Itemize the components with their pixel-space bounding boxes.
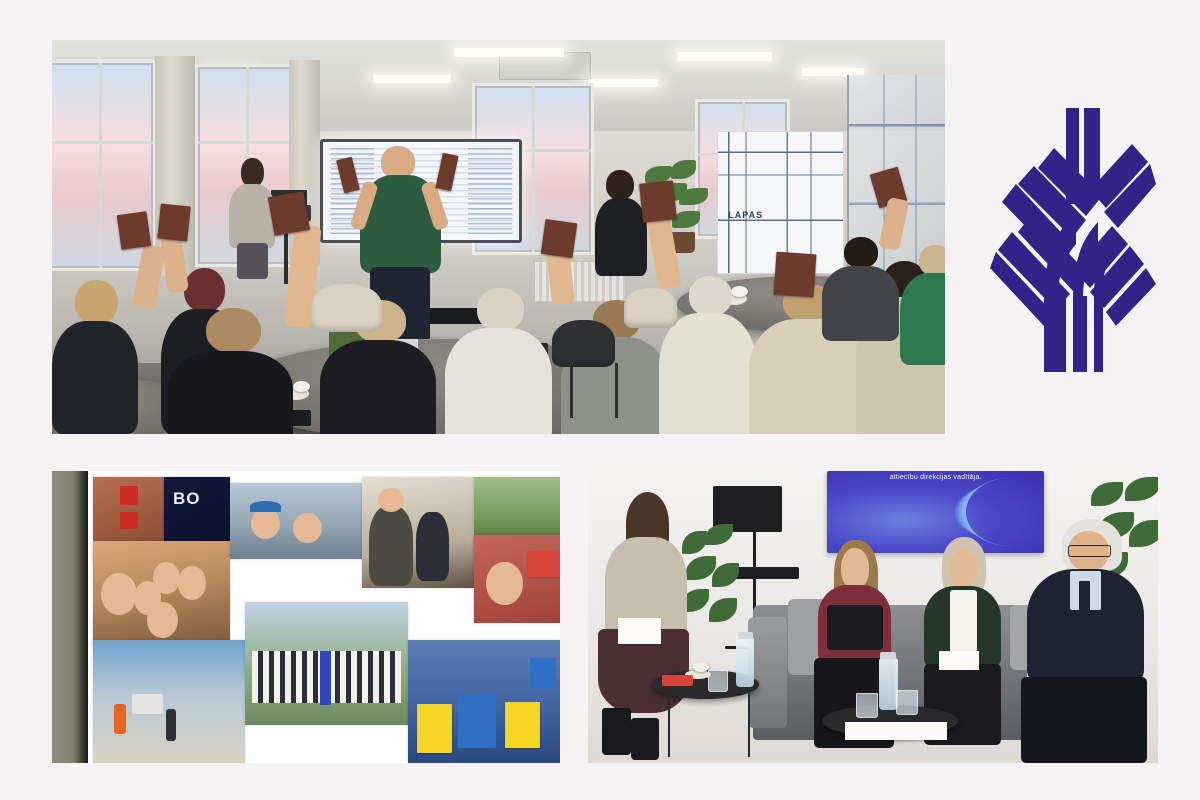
torso [229,184,275,248]
banner-wordmark: LAPAS [728,210,763,220]
notes-paper [618,618,661,644]
voting-card [541,219,578,259]
voting-card [774,251,817,297]
table-leg [668,693,670,757]
voting-card [639,180,677,223]
head [241,158,264,186]
chair [624,288,678,327]
eyeglasses-icon [1068,545,1111,557]
bike-helmet-icon [250,501,282,512]
head [606,170,634,200]
trousers [1021,677,1147,763]
collage-photo-protest-selfie [474,535,560,623]
collage-canvas: LAPAS [0,0,1200,800]
boot [602,708,630,755]
protest-sign-freedom [417,704,452,753]
audience-member-foreground [168,308,293,434]
audience-member [820,237,900,339]
protest-sign [528,551,560,577]
protest-flag [530,658,555,690]
drinking-glass [708,670,728,692]
projected-slide-collage-photo: BO [52,471,560,763]
smartphone-red-case [662,675,693,685]
head [381,146,415,178]
red-banner-tag [120,486,138,505]
panelist-fourth [1021,524,1158,763]
red-banner-tag [120,512,138,530]
torso [595,198,647,276]
display-caption-text: attiecību direkcijas vadītāja. [827,474,1044,481]
chair [552,320,615,367]
panelist-moderator [594,497,702,760]
audience-member [445,288,552,434]
collage-photo-indoor-meeting [362,477,474,588]
coffee-cup [293,381,310,392]
collage-photo-group-selfie [93,541,230,646]
bottle-cap [738,632,753,639]
ceiling-light [588,79,658,87]
chair-leg [615,363,618,418]
collage-photo-beach [93,640,245,763]
organization-logo [990,104,1156,372]
drinking-glass [856,693,879,718]
truck [132,694,162,714]
voting-card [157,204,191,242]
worker-figure [166,709,177,741]
table-leg [748,693,750,757]
voting-card [268,191,310,236]
boot [631,718,659,760]
ceiling-light [373,75,451,83]
banner-letters: BO [173,489,201,509]
collage-photo-rally [408,640,560,763]
ceiling-light [454,48,564,57]
worker-figure [114,704,126,733]
collage-photo-street-selfie [230,483,362,559]
slide-right-column [468,148,511,235]
ceiling-light [677,52,772,61]
head [841,548,868,589]
audience-member [900,245,945,363]
notes-paper [939,651,979,669]
head [950,549,977,588]
drinking-glass [896,690,919,715]
shirt [950,590,977,659]
wall-edge [52,471,88,763]
shawl [827,605,884,650]
necktie [1079,581,1090,643]
panel-discussion-photo: attiecību direkcijas vadītāja. [588,471,1158,763]
meeting-room-vote-photo: LAPAS [52,40,945,434]
chair-leg [570,363,573,418]
bottle-cap [880,652,896,659]
voting-card [117,211,152,250]
protest-sign-blue [458,694,496,748]
protest-sign-yellow [505,702,540,749]
water-bottle [736,637,754,687]
audience-member [52,276,141,434]
notes-paper-on-table [845,722,948,740]
collage-photo-formal-group [245,602,408,725]
ceiling-light [802,68,864,76]
blue-dress-figure [320,651,331,705]
chair [311,284,382,331]
